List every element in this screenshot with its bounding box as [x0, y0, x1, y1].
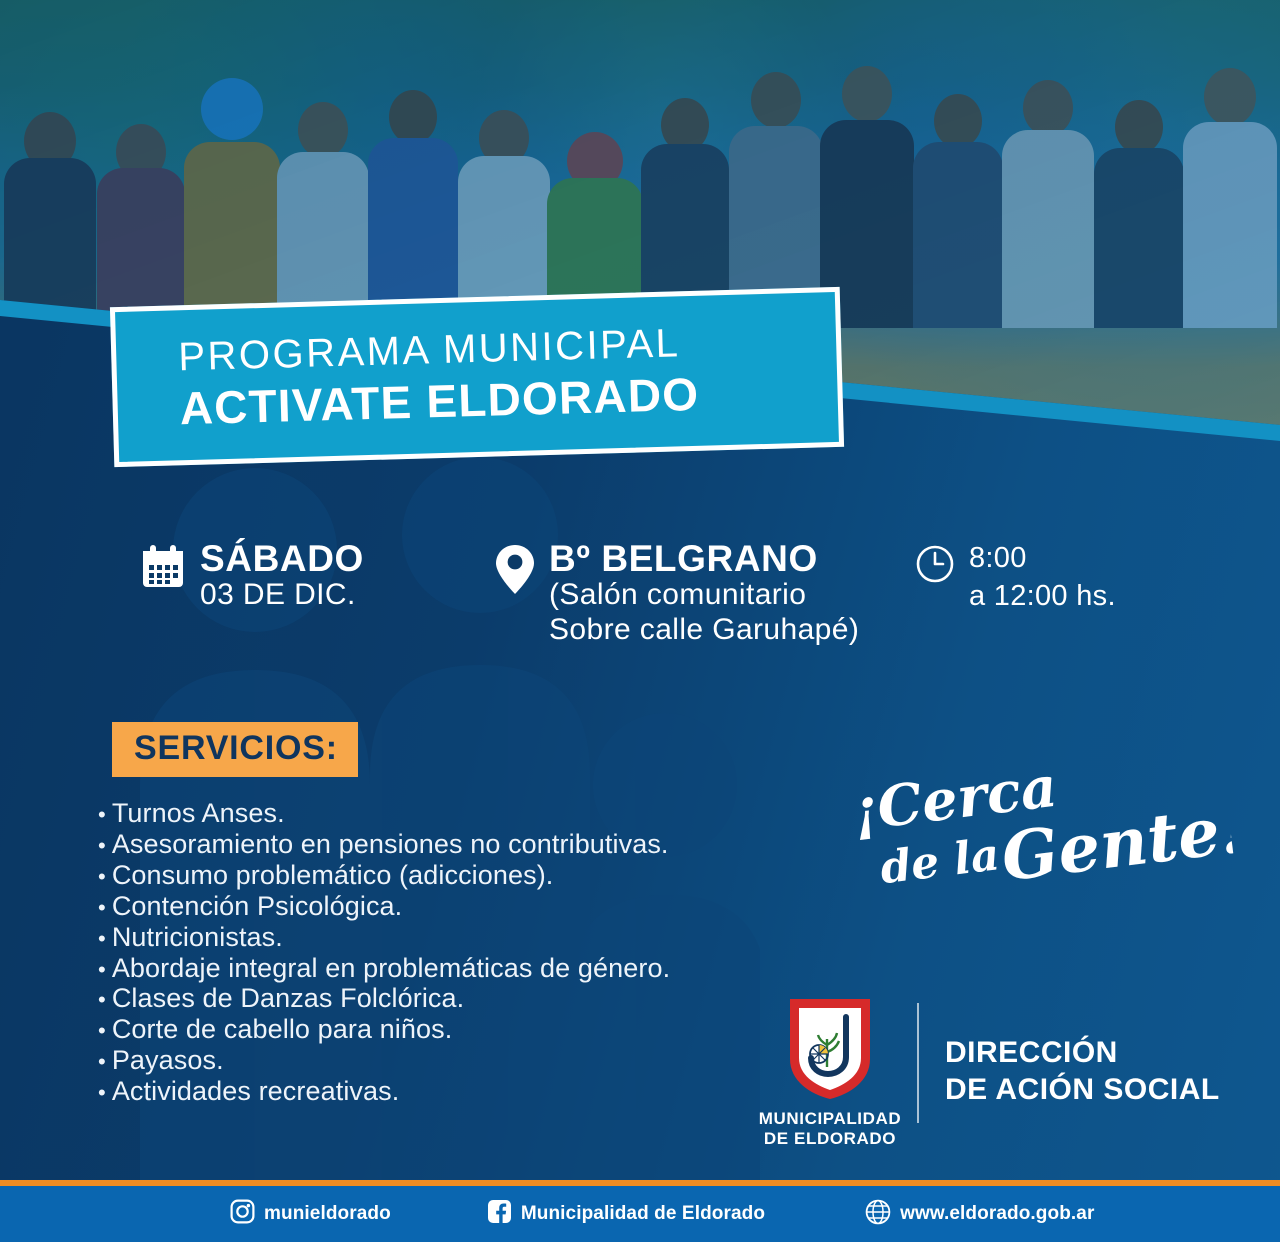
- facebook-icon: [487, 1199, 512, 1229]
- municipality-name-line1: MUNICIPALIDAD: [755, 1109, 905, 1129]
- services-heading: SERVICIOS:: [112, 722, 358, 777]
- poster-canvas: PROGRAMA MUNICIPAL ACTIVATE ELDORADO: [0, 0, 1280, 1242]
- department-line1: DIRECCIÓN: [945, 1035, 1220, 1072]
- event-start-time: 8:00: [969, 540, 1116, 578]
- website-url: www.eldorado.gob.ar: [900, 1203, 1094, 1225]
- instagram-icon: [230, 1199, 255, 1229]
- list-item: Asesoramiento en pensiones no contributi…: [98, 829, 858, 860]
- event-time-block: 8:00 a 12:00 hs.: [915, 540, 1195, 615]
- list-item: Corte de cabello para niños.: [98, 1014, 858, 1045]
- footer-instagram[interactable]: munieldorado: [230, 1199, 391, 1229]
- facebook-page-name: Municipalidad de Eldorado: [521, 1203, 765, 1225]
- event-info-row: SÁBADO 03 DE DIC. Bº BELGRANO (Salón com…: [140, 540, 1200, 647]
- event-date-block: SÁBADO 03 DE DIC.: [140, 540, 495, 613]
- instagram-handle: munieldorado: [264, 1203, 391, 1225]
- department-line2: DE ACIÓN SOCIAL: [945, 1072, 1220, 1109]
- services-list: Turnos Anses. Asesoramiento en pensiones…: [98, 798, 858, 1107]
- footer-website[interactable]: www.eldorado.gob.ar: [865, 1199, 1094, 1230]
- event-place-block: Bº BELGRANO (Salón comunitario Sobre cal…: [495, 540, 915, 647]
- event-neighborhood-label: Bº BELGRANO: [549, 540, 859, 578]
- list-item: Payasos.: [98, 1045, 858, 1076]
- list-item: Consumo problemático (adicciones).: [98, 860, 858, 891]
- clock-icon: [915, 544, 955, 589]
- list-item: Contención Psicológica.: [98, 891, 858, 922]
- calendar-icon: [140, 544, 186, 595]
- event-venue-line1: (Salón comunitario: [549, 578, 859, 612]
- slogan-cerca-de-la-gente: ¡Cerca de la Gente!: [841, 729, 1235, 914]
- list-item: Abordaje integral en problemáticas de gé…: [98, 953, 858, 984]
- list-item: Clases de Danzas Folclórica.: [98, 983, 858, 1014]
- footer-bar: munieldorado Municipalidad de Eldorado w…: [0, 1186, 1280, 1242]
- event-venue-line2: Sobre calle Garuhapé): [549, 613, 859, 647]
- event-end-time: a 12:00 hs.: [969, 578, 1116, 616]
- globe-icon: [865, 1199, 891, 1230]
- municipality-logo-block: MUNICIPALIDAD DE ELDORADO DIRECCIÓN DE A…: [755, 995, 1220, 1149]
- municipality-name-line2: DE ELDORADO: [755, 1129, 905, 1149]
- title-banner: PROGRAMA MUNICIPAL ACTIVATE ELDORADO: [110, 287, 844, 467]
- list-item: Nutricionistas.: [98, 922, 858, 953]
- map-pin-icon: [495, 544, 535, 601]
- services-heading-label: SERVICIOS:: [134, 729, 338, 767]
- eldorado-shield-icon: [755, 995, 905, 1103]
- event-date-label: 03 DE DIC.: [200, 578, 364, 612]
- logo-divider: [917, 1003, 919, 1123]
- event-day-label: SÁBADO: [200, 540, 364, 578]
- footer-facebook[interactable]: Municipalidad de Eldorado: [487, 1199, 765, 1229]
- list-item: Turnos Anses.: [98, 798, 858, 829]
- list-item: Actividades recreativas.: [98, 1076, 858, 1107]
